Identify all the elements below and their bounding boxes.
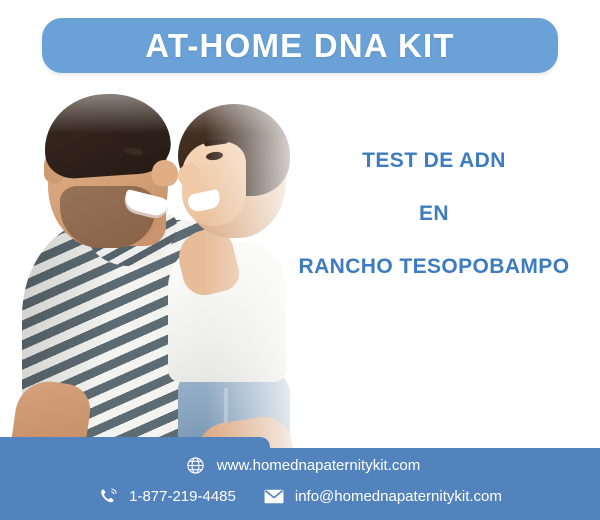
footer-website-row: www.homednapaternitykit.com — [0, 455, 600, 475]
globe-icon — [186, 455, 206, 475]
footer-website[interactable]: www.homednapaternitykit.com — [186, 455, 420, 475]
father-nose — [152, 160, 178, 186]
footer-email-label: info@homednapaternitykit.com — [295, 489, 502, 504]
poster-canvas: AT-HOME DNA KIT — [0, 0, 600, 520]
footer-content: www.homednapaternitykit.com 1-877-219-44… — [0, 437, 600, 520]
footer-bar: www.homednapaternitykit.com 1-877-219-44… — [0, 437, 600, 520]
footer-website-label: www.homednapaternitykit.com — [217, 458, 420, 473]
headline-line-3: RANCHO TESOPOBAMPO — [268, 256, 600, 277]
page-title: AT-HOME DNA KIT — [145, 29, 454, 62]
header-banner: AT-HOME DNA KIT — [42, 18, 558, 73]
phone-icon — [98, 486, 118, 506]
footer-email[interactable]: info@homednapaternitykit.com — [264, 486, 502, 506]
footer-contact-row: 1-877-219-4485 info@homednapaternitykit.… — [0, 486, 600, 506]
headline-block: TEST DE ADN EN RANCHO TESOPOBAMPO — [268, 150, 600, 277]
child-nose — [178, 164, 200, 187]
headline-line-2: EN — [268, 203, 600, 224]
envelope-icon — [264, 486, 284, 506]
footer-phone[interactable]: 1-877-219-4485 — [98, 486, 236, 506]
footer-phone-label: 1-877-219-4485 — [129, 489, 236, 504]
headline-line-1: TEST DE ADN — [268, 150, 600, 171]
